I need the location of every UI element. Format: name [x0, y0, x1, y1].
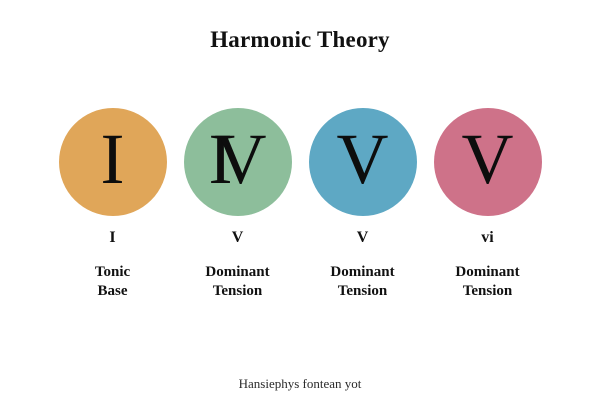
chord-columns: I I Tonic Base IV V Dominant Tension V V… [0, 108, 600, 301]
chord-circle-glyph-2: IV [209, 123, 267, 195]
chord-numeral-4: vi [481, 230, 493, 246]
chord-column-4: V vi Dominant Tension [425, 108, 550, 301]
chord-circle-glyph-4: V [462, 123, 514, 195]
chord-description-1: Tonic Base [95, 263, 130, 301]
chord-circle-glyph-3: V [337, 123, 389, 195]
chord-numeral-3: V [357, 230, 369, 246]
footer-caption: Hansiephys fontean yot [0, 376, 600, 392]
chord-column-1: I I Tonic Base [50, 108, 175, 301]
chord-description-2: Dominant Tension [205, 263, 269, 301]
chord-circle-glyph-1: I [101, 123, 125, 195]
chord-circle-3: V [309, 108, 417, 216]
chord-circle-4: V [434, 108, 542, 216]
chord-numeral-1: I [109, 230, 115, 246]
chord-circle-2: IV [184, 108, 292, 216]
page-title: Harmonic Theory [0, 27, 600, 53]
chord-column-2: IV V Dominant Tension [175, 108, 300, 301]
chord-description-4: Dominant Tension [455, 263, 519, 301]
chord-column-3: V V Dominant Tension [300, 108, 425, 301]
chord-description-3: Dominant Tension [330, 263, 394, 301]
harmonic-theory-infographic: Harmonic Theory I I Tonic Base IV V Domi… [0, 0, 600, 420]
chord-circle-1: I [59, 108, 167, 216]
chord-numeral-2: V [232, 230, 244, 246]
